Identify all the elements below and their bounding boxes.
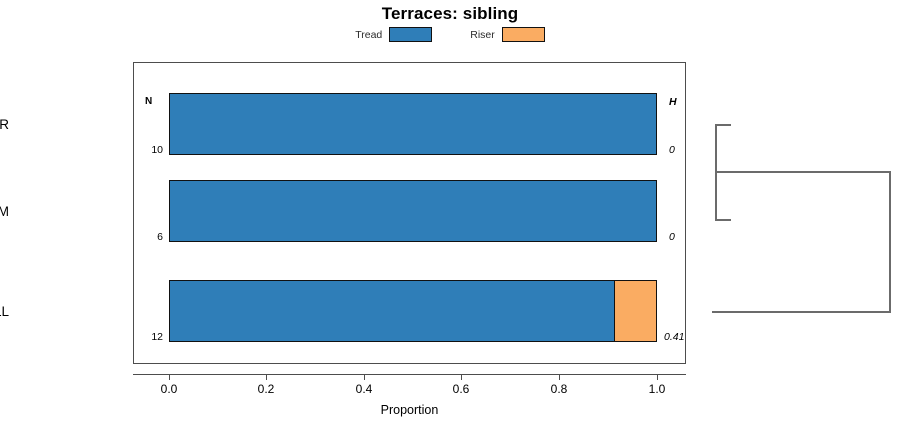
x-tick-label-3: 0.6 (436, 382, 486, 396)
bar-row-lindstrom (169, 180, 657, 242)
x-axis-title: Proportion (133, 403, 686, 417)
dendro-leaf-mt-carroll (712, 311, 891, 313)
row-label-lindstrom: LINDSTROM (0, 204, 9, 219)
legend-swatch-tread (389, 27, 432, 42)
row-n-lindstrom: 6 (141, 231, 163, 243)
dendrogram (686, 62, 900, 364)
x-axis-line (133, 374, 686, 375)
x-tick-label-0: 0.0 (144, 382, 194, 396)
legend-item-tread: Tread (355, 27, 432, 42)
legend-item-riser: Riser (470, 27, 545, 42)
x-tick-4 (559, 374, 560, 380)
x-tick-3 (461, 374, 462, 380)
chart-legend: Tread Riser (0, 27, 900, 42)
chart-title: Terraces: sibling (0, 4, 900, 24)
bar-row-mt-carroll (169, 280, 657, 342)
row-n-otter: 10 (141, 144, 163, 156)
x-tick-label-4: 0.8 (534, 382, 584, 396)
x-tick-label-1: 0.2 (241, 382, 291, 396)
legend-swatch-riser (502, 27, 545, 42)
bar-segment-tread-otter (169, 93, 657, 155)
dendro-leaf-otter (715, 124, 731, 126)
dendro-branch-cluster-to-root (715, 171, 891, 173)
n-column-header: N (145, 96, 152, 107)
row-n-mt-carroll: 12 (141, 331, 163, 343)
row-label-mt-carroll: MT. CARROLL (0, 304, 9, 319)
legend-label-tread: Tread (355, 29, 382, 41)
x-tick-label-2: 0.4 (339, 382, 389, 396)
row-h-otter: 0 (669, 144, 675, 156)
bar-segment-tread-lindstrom (169, 180, 657, 242)
row-label-otter: OTTER (0, 117, 9, 132)
x-tick-label-5: 1.0 (632, 382, 682, 396)
bar-row-otter (169, 93, 657, 155)
chart-root: Terraces: sibling Tread Riser OTTER N 10… (0, 0, 900, 440)
x-tick-0 (169, 374, 170, 380)
legend-label-riser: Riser (470, 29, 495, 41)
dendro-root-join (889, 171, 891, 313)
bar-segment-tread-mt-carroll (169, 280, 616, 342)
h-column-header: H (669, 96, 677, 108)
dendro-leaf-lindstrom (715, 219, 731, 221)
x-tick-5 (657, 374, 658, 380)
row-h-mt-carroll: 0.41 (664, 331, 684, 343)
row-h-lindstrom: 0 (669, 231, 675, 243)
x-tick-1 (266, 374, 267, 380)
x-tick-2 (364, 374, 365, 380)
bar-segment-riser-mt-carroll (614, 280, 657, 342)
